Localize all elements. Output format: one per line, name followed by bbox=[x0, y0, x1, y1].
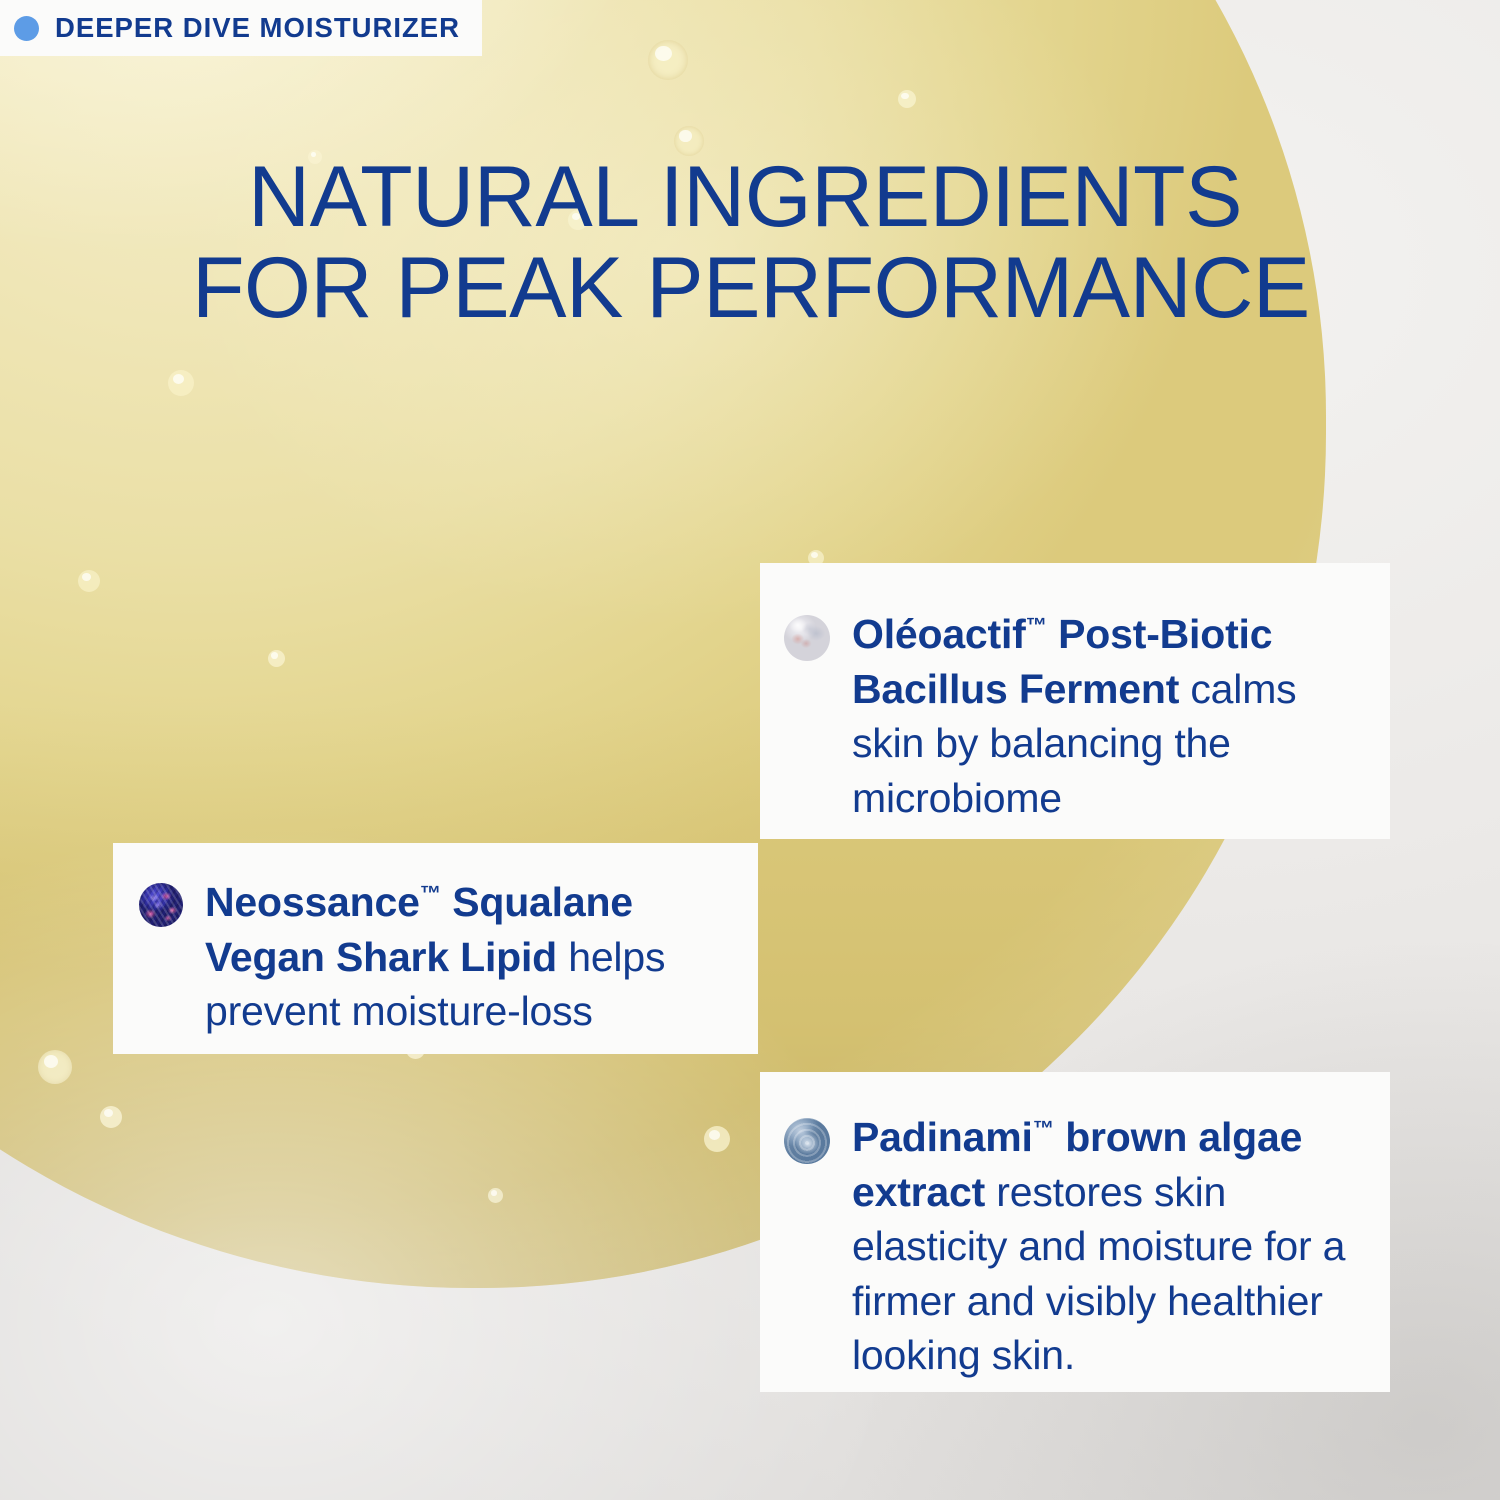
trademark-symbol: ™ bbox=[1033, 1117, 1054, 1141]
ingredient-card-oleoactif: Oléoactif™ Post-Biotic Bacillus Ferment … bbox=[760, 563, 1390, 839]
product-label-text: DEEPER DIVE MOISTURIZER bbox=[55, 12, 460, 44]
ingredient-name: Neossance bbox=[205, 879, 420, 925]
trademark-symbol: ™ bbox=[1026, 614, 1047, 638]
violet-textured-sphere-icon bbox=[139, 883, 183, 927]
ingredient-name: Oléoactif bbox=[852, 611, 1026, 657]
blue-swirl-sphere-icon bbox=[784, 1118, 830, 1164]
blue-dot-icon bbox=[14, 16, 39, 41]
product-label-badge: DEEPER DIVE MOISTURIZER bbox=[0, 0, 482, 56]
trademark-symbol: ™ bbox=[420, 882, 441, 906]
page-title-line-2: FOR PEAK PERFORMANCE bbox=[192, 243, 1368, 334]
ingredient-card-padinami: Padinami™ brown algae extract restores s… bbox=[760, 1072, 1390, 1392]
product-marketing-graphic: DEEPER DIVE MOISTURIZER NATURAL INGREDIE… bbox=[0, 0, 1500, 1500]
ingredient-name: Padinami bbox=[852, 1114, 1033, 1160]
ingredient-card-text: Neossance™ Squalane Vegan Shark Lipid he… bbox=[205, 875, 728, 1039]
ingredient-card-text: Padinami™ brown algae extract restores s… bbox=[852, 1110, 1360, 1383]
page-title: NATURAL INGREDIENTS FOR PEAK PERFORMANCE bbox=[248, 152, 1368, 334]
pale-lavender-sphere-icon bbox=[784, 615, 830, 661]
ingredient-card-neossance: Neossance™ Squalane Vegan Shark Lipid he… bbox=[113, 843, 758, 1054]
page-title-line-1: NATURAL INGREDIENTS bbox=[248, 149, 1242, 245]
ingredient-card-text: Oléoactif™ Post-Biotic Bacillus Ferment … bbox=[852, 607, 1356, 825]
